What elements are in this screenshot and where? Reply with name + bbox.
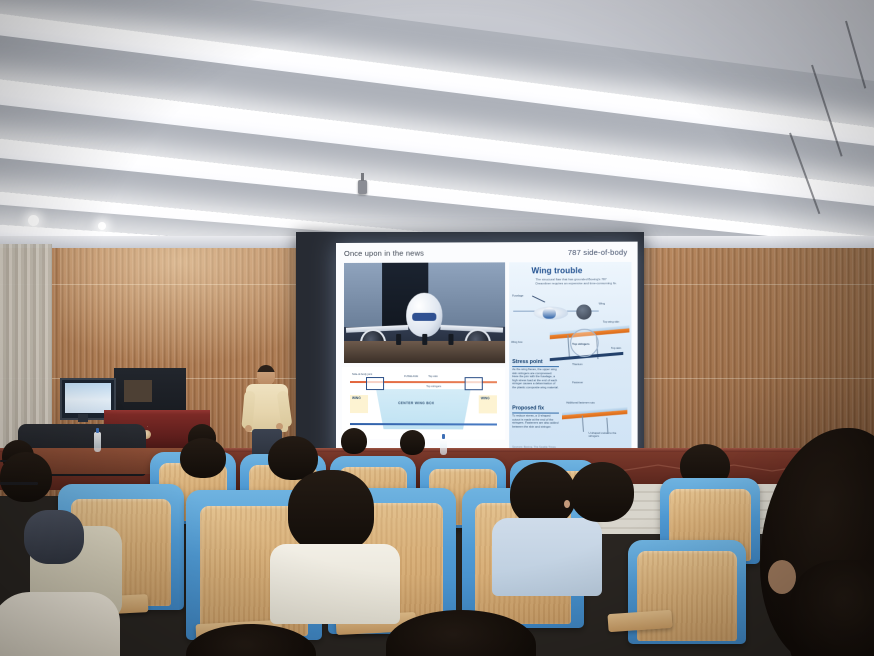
wing-label-right: WING xyxy=(481,396,490,400)
audience-head xyxy=(180,438,226,478)
audience-head xyxy=(570,462,634,522)
section-heading-proposed-fix: Proposed fix xyxy=(512,405,544,411)
section-body-proposed-fix: To reduce stress, a U-shaped cutout is m… xyxy=(512,414,559,429)
audience-head xyxy=(400,430,425,455)
ceiling xyxy=(0,0,874,248)
confidence-monitor-screen xyxy=(65,383,111,413)
presentation-slide: Once upon in the news 787 side-of-body W… xyxy=(336,242,638,462)
jacket-on-seat xyxy=(24,510,84,564)
presenter-head xyxy=(257,365,275,386)
landing-gear xyxy=(396,334,401,345)
side-of-body-joint-right xyxy=(465,377,483,390)
av-rack-panel xyxy=(124,380,152,402)
engine-detail-circle xyxy=(576,304,591,319)
hangar-door-panel xyxy=(344,263,383,327)
audience-member xyxy=(258,470,398,610)
foreground-shoulder xyxy=(0,592,120,656)
side-of-body-joint-left xyxy=(366,377,384,390)
monitor-stand xyxy=(78,414,88,422)
foreground-shoulder xyxy=(790,560,874,656)
label-additional-fastener-nuts: Additional fastener nuts xyxy=(566,401,595,404)
audience-head xyxy=(288,470,374,552)
label-top-skin: Top skin xyxy=(611,347,621,350)
audience-member xyxy=(562,462,646,562)
hangar-door-panel xyxy=(463,262,506,327)
water-bottle xyxy=(94,432,101,452)
landing-gear xyxy=(422,334,427,345)
lecture-hall-photo: Once upon in the news 787 side-of-body W… xyxy=(0,0,874,656)
landing-gear xyxy=(448,334,453,345)
leader-line xyxy=(532,296,545,303)
presenter-left-hand xyxy=(245,425,252,432)
infographic-headline: Wing trouble xyxy=(531,266,582,275)
window-curtain xyxy=(0,244,52,454)
audience-member xyxy=(180,438,228,478)
aircraft-photo xyxy=(344,262,505,363)
label-top-skin-diagram: Top skin xyxy=(428,375,438,378)
ceiling-downlight xyxy=(28,215,39,226)
label-titanium: Titanium xyxy=(572,363,594,366)
bottom-skin-line xyxy=(350,423,497,425)
foreground-ear xyxy=(768,560,796,594)
section-body-stress-point: As the wing flexes, the upper wing skin … xyxy=(512,368,559,390)
water-bottle xyxy=(440,438,447,455)
section-heading-stress-point: Stress point xyxy=(512,359,542,365)
audience-head xyxy=(341,428,367,454)
infographic-deck: The structural flaw that has grounded Bo… xyxy=(536,277,622,286)
label-fuselage-diagram: FUSELAGE xyxy=(404,375,418,378)
sprinkler-head-icon xyxy=(358,180,367,194)
aircraft-outline-body xyxy=(543,308,556,319)
ceiling-downlight xyxy=(98,222,106,230)
wing-trouble-infographic: Wing trouble The structural flaw that ha… xyxy=(509,262,631,454)
label-top-wing-skin: Top wing skin xyxy=(603,321,620,324)
label-fuselage: Fuselage xyxy=(512,295,523,298)
label-wing-box: Wing box xyxy=(511,341,522,344)
rib xyxy=(582,416,584,432)
audience-head xyxy=(0,452,52,502)
airline-livery-mark xyxy=(412,313,436,321)
slide-title-left: Once upon in the news xyxy=(344,249,424,258)
label-fastener: Fastener xyxy=(572,381,583,384)
eyeglasses xyxy=(0,482,38,485)
audience-torso xyxy=(270,544,400,624)
label-u-shaped-cutout: U-shaped cutout to the stringers xyxy=(589,432,618,438)
slide-title-right: 787 side-of-body xyxy=(568,248,628,257)
center-wing-box-label: CENTER WING BOX xyxy=(398,401,434,405)
label-top-stringers-diagram: Top stringers xyxy=(426,385,441,388)
label-side-of-body-joint: Side-of-body joint xyxy=(352,373,372,376)
label-wing: Wing xyxy=(599,302,605,305)
wing-label-left: WING xyxy=(352,396,361,400)
label-top-stringers: Top stringers xyxy=(572,343,589,346)
